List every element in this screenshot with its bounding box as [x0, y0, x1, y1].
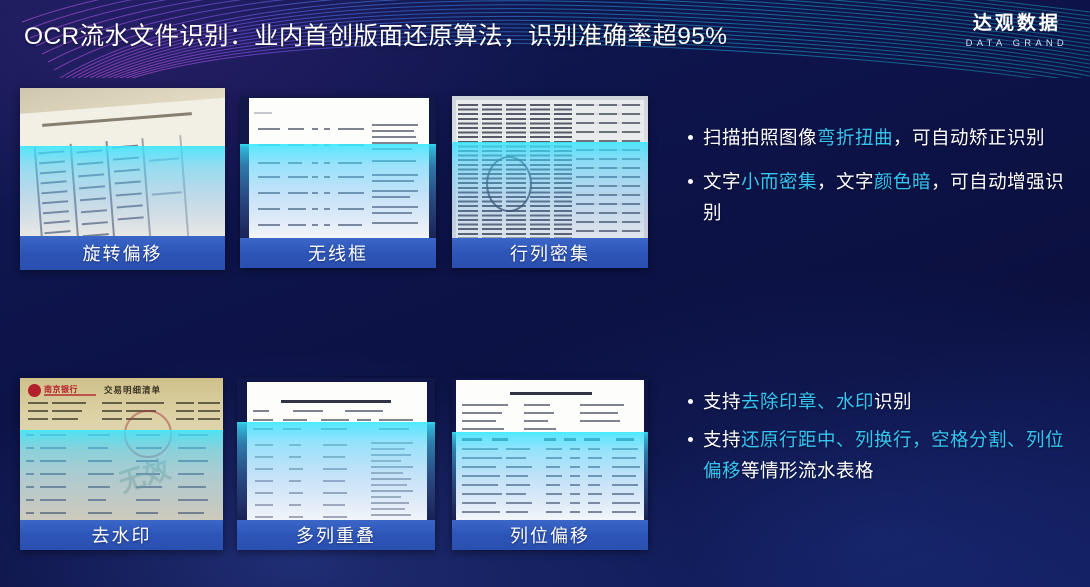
card-caption: 多列重叠 [237, 520, 435, 550]
bullet-item: 文字小而密集，文字颜色暗，可自动增强识别 [686, 166, 1068, 228]
bullet-group-bottom: 支持去除印章、水印识别 支持还原行距中、列换行，空格分割、列位偏移等情形流水表格 [686, 386, 1068, 486]
bullet-text: 识别 [874, 391, 912, 412]
doc-table-block [254, 106, 424, 256]
bullet-highlight-text: 弯折扭曲 [817, 127, 893, 148]
bullet-text: ，文字 [817, 171, 874, 192]
doc-dense-grid [458, 104, 642, 256]
bullet-item: 支持去除印章、水印识别 [686, 386, 1068, 417]
doc-meta-block [462, 404, 638, 432]
thumbnail-card-column-shift[interactable]: 列位偏移 [452, 378, 648, 550]
bullet-text: 支持 [703, 429, 741, 450]
bullet-text: 支持 [703, 391, 741, 412]
logo-text-cn: 达观数据 [966, 14, 1068, 33]
bullet-group-top: 扫描拍照图像弯折扭曲，可自动矫正识别 文字小而密集，文字颜色暗，可自动增强识别 [686, 122, 1068, 228]
bullet-text: 文字 [703, 171, 741, 192]
logo-text-en: DATA GRAND [966, 39, 1068, 49]
doc-title-line [281, 400, 391, 403]
thumbnail-card-remove-watermark[interactable]: 南京银行 交易明细清单 [20, 378, 223, 550]
thumbnail-card-borderless[interactable]: 无线框 [240, 96, 436, 268]
bullet-highlight-text: 小而密集 [741, 171, 817, 192]
card-caption: 无线框 [240, 238, 436, 268]
page-title: OCR流水文件识别：业内首创版面还原算法，识别准确率超95% [24, 17, 727, 52]
bullet-text: 等情形流水表格 [741, 460, 874, 481]
thumbnail-card-rotation-offset[interactable]: 旋转偏移 [20, 88, 225, 270]
doc-bank-header: 南京银行 交易明细清单 [26, 382, 217, 426]
bullet-item: 扫描拍照图像弯折扭曲，可自动矫正识别 [686, 122, 1068, 153]
bullet-item: 支持还原行距中、列换行，空格分割、列位偏移等情形流水表格 [686, 424, 1068, 486]
seal-stamp [486, 156, 532, 212]
bullet-text: ，可自动矫正识别 [893, 127, 1045, 148]
card-caption: 行列密集 [452, 238, 648, 268]
bullet-highlight-text: 颜色暗 [874, 171, 931, 192]
card-caption: 旋转偏移 [20, 236, 225, 270]
bullet-highlight-text: 去除印章、水印 [741, 391, 874, 412]
doc-title-line [510, 392, 592, 395]
seal-stamp [124, 410, 172, 458]
card-caption: 去水印 [20, 520, 223, 550]
thumbnail-card-dense-rows[interactable]: 行列密集 [452, 96, 648, 268]
bullet-text: 扫描拍照图像 [703, 127, 817, 148]
card-caption: 列位偏移 [452, 520, 648, 550]
statement-title: 交易明细清单 [104, 384, 161, 396]
thumbnail-card-multi-column-overlap[interactable]: 多列重叠 [237, 378, 435, 550]
slide-root: OCR流水文件识别：业内首创版面还原算法，识别准确率超95% 达观数据 DATA… [0, 0, 1090, 587]
brand-logo: 达观数据 DATA GRAND [966, 14, 1068, 49]
